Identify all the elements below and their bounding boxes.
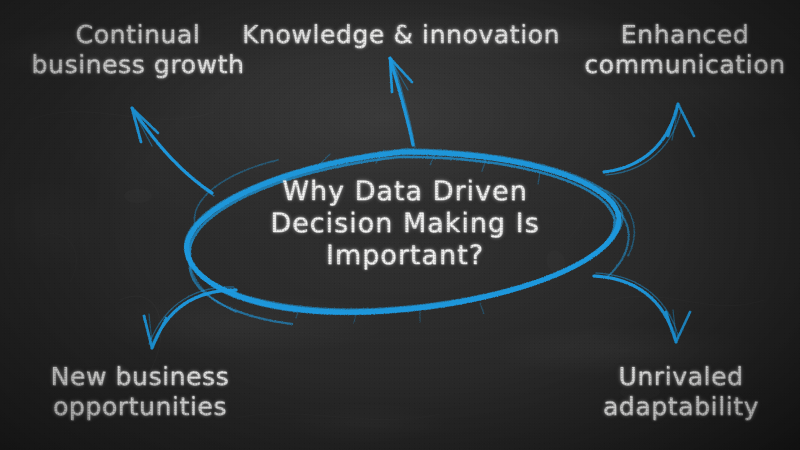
board-vignette <box>0 0 800 450</box>
chalkboard-diagram: Why Data Driven Decision Making Is Impor… <box>0 0 800 450</box>
